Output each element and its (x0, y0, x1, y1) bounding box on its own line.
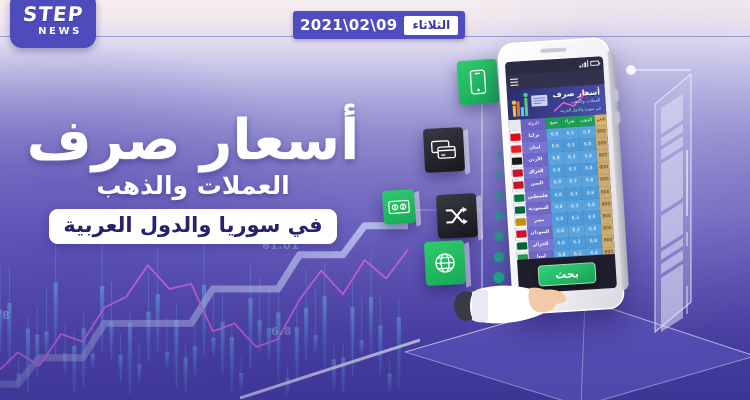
phone-volume-down-button[interactable] (613, 110, 621, 124)
progress-dot (495, 212, 503, 220)
headline-block: أسعار صرف العملات والذهب في سوريا والدول… (18, 112, 368, 244)
cell-sell: 6.8 (550, 189, 566, 202)
cell-sell: 6.8 (546, 128, 562, 141)
country-flag-icon (512, 157, 522, 165)
battery-icon (590, 60, 599, 66)
progress-dot (495, 232, 504, 241)
banner-canvas: 78 61.01 6.8 (0, 0, 750, 400)
cell-buy: 6.3 (565, 176, 581, 189)
country-flag-icon (510, 133, 520, 141)
money-exchange-icon[interactable] (382, 189, 416, 225)
cell-change: 800 (595, 125, 607, 138)
cell-sell: 6.8 (551, 201, 567, 214)
cell-flag (512, 179, 524, 192)
phone-volume-up-button[interactable] (612, 88, 620, 102)
country-flag-icon (511, 145, 521, 153)
cell-gold: 6.8 (581, 174, 599, 187)
headline-line-2: العملات والذهب (18, 171, 368, 201)
cell-gold: 6.8 (580, 162, 598, 175)
cell-change: 800 (600, 210, 612, 223)
cell-sell: 6.8 (552, 225, 568, 238)
headline-badge: في سوريا والدول العربية (49, 209, 336, 244)
cell-change: 800 (597, 162, 609, 175)
cell-sell: 6.8 (547, 140, 563, 153)
cell-buy: 6.3 (564, 151, 580, 164)
cell-flag (514, 216, 526, 229)
cell-gold: 6.8 (581, 187, 599, 200)
credit-cards-icon[interactable] (423, 127, 465, 173)
weekday-value: الثلاثاء (404, 16, 458, 35)
cell-flag (511, 155, 523, 168)
cell-buy: 6.3 (566, 200, 582, 213)
app-banner: أسعار صرف العملات والذهب في سوريا والدول… (507, 84, 607, 120)
date-value: 2021\02\09 (300, 16, 397, 34)
cell-gold: 6.8 (583, 211, 601, 224)
step-news-logo[interactable]: STEP NEWS (10, 0, 96, 48)
shuffle-exchange-icon[interactable] (436, 193, 478, 239)
cell-sell: 6.8 (552, 213, 568, 226)
cell-change: 800 (599, 186, 611, 199)
progress-dot (494, 252, 504, 262)
cell-gold: 6.8 (579, 150, 597, 163)
cell-change: 800 (602, 235, 614, 248)
logo-primary-text: STEP (22, 4, 84, 24)
country-flag-icon (515, 218, 525, 226)
signal-icon (579, 60, 588, 67)
cell-sell: 6.8 (549, 177, 565, 190)
date-badge: 2021\02\09 الثلاثاء (293, 11, 465, 39)
progress-dot (497, 152, 502, 157)
cell-flag (511, 167, 523, 180)
mobile-phone-icon[interactable] (457, 59, 500, 106)
cell-gold: 6.8 (578, 126, 596, 139)
cell-buy: 6.3 (566, 188, 582, 201)
cell-flag (514, 203, 526, 216)
cell-change: 800 (601, 222, 613, 235)
cell-gold: 6.8 (584, 223, 602, 236)
hand-pointing (442, 276, 572, 338)
cell-flag (509, 130, 521, 143)
country-flag-icon (514, 194, 524, 202)
smartphone-mockup: أسعار صرف العملات والذهب في سوريا والدول… (497, 37, 625, 315)
country-flag-icon (513, 182, 523, 190)
cell-buy: 6.3 (567, 212, 583, 225)
chart-annotation-1: 78 (0, 309, 10, 322)
cell-gold: 6.8 (582, 199, 600, 212)
cell-flag (516, 240, 528, 253)
cell-sell: 6.8 (548, 152, 564, 165)
country-flag-icon (515, 206, 525, 214)
cell-change: 800 (596, 137, 608, 150)
cell-flag (515, 228, 527, 241)
cell-buy: 6.3 (564, 163, 580, 176)
country-flag-icon (512, 169, 522, 177)
cell-flag (510, 143, 522, 156)
country-flag-icon (517, 242, 527, 250)
logo-secondary-text: NEWS (38, 27, 82, 37)
header-change: التغير (595, 114, 607, 126)
cell-buy: 6.3 (569, 236, 585, 249)
cell-gold: 6.8 (584, 235, 602, 248)
country-flag-icon (516, 230, 526, 238)
progress-dot (496, 192, 503, 199)
phone-screen: أسعار صرف العملات والذهب في سوريا والدول… (505, 56, 617, 294)
cell-change: 800 (597, 149, 609, 162)
hamburger-icon[interactable] (510, 78, 518, 86)
header-flag (509, 119, 521, 131)
headline-line-3: في سوريا والدول العربية (63, 213, 322, 238)
cell-flag (513, 191, 525, 204)
cell-sell: 6.8 (549, 164, 565, 177)
cell-buy: 6.3 (563, 139, 579, 152)
cell-buy: 6.3 (568, 224, 584, 237)
cell-gold: 6.8 (578, 138, 596, 151)
headline-line-1: أسعار صرف (18, 112, 368, 169)
progress-dot (496, 172, 502, 178)
cell-change: 800 (600, 198, 612, 211)
cell-change: 800 (598, 174, 610, 187)
chart-annotation-3: 6.8 (271, 325, 292, 338)
cell-sell: 6.8 (553, 237, 569, 250)
cell-buy: 6.3 (562, 127, 578, 140)
